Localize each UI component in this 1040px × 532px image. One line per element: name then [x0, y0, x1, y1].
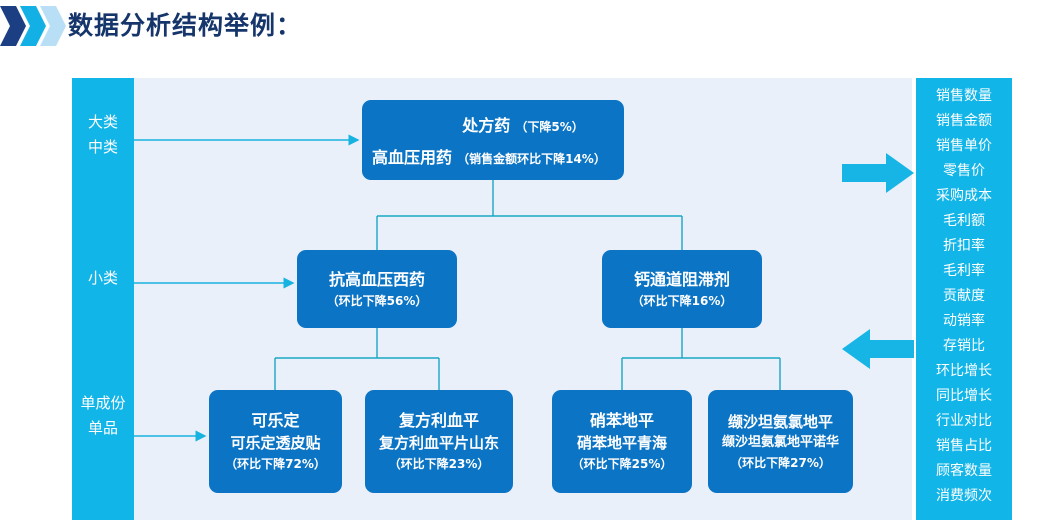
diagram-canvas: 大类 中类 小类 单成份 单品: [72, 78, 912, 520]
node-leaf-1[interactable]: 可乐定 可乐定透皮贴 （环比下降72%）: [209, 390, 342, 493]
node-leaf-1-line1: 可乐定: [251, 409, 299, 432]
slide-header: 数据分析结构举例：: [0, 0, 1040, 60]
level-label-line: 单品: [72, 416, 134, 441]
arrow-left-icon: [842, 328, 914, 370]
metric-item[interactable]: 销售单价: [916, 134, 1012, 159]
metric-item[interactable]: 环比增长: [916, 359, 1012, 384]
metric-column: 销售数量销售金额销售单价零售价采购成本毛利额折扣率毛利率贡献度动销率存销比环比增…: [916, 78, 1012, 520]
node-leaf-4-note: （环比下降27%）: [730, 453, 831, 473]
level-label-line: 小类: [72, 266, 134, 291]
node-leaf-3-note: （环比下降25%）: [572, 454, 673, 474]
node-root-title-row: 处方药 （下降5%）: [362, 112, 624, 136]
slide-root: 数据分析结构举例： 大类 中类 小类 单成份 单品: [0, 0, 1040, 532]
node-mid-2-note: （环比下降16%）: [632, 291, 733, 311]
node-leaf-1-note: （环比下降72%）: [225, 454, 326, 474]
page-title: 数据分析结构举例：: [68, 8, 302, 44]
metric-item[interactable]: 毛利额: [916, 209, 1012, 234]
metric-item[interactable]: 行业对比: [916, 409, 1012, 434]
node-leaf-3-line2: 硝苯地平青海: [577, 432, 667, 454]
node-mid-1-note: （环比下降56%）: [327, 291, 428, 311]
node-root-title-note: （下降5%）: [515, 120, 583, 134]
level-label-column: 大类 中类 小类 单成份 单品: [72, 78, 134, 520]
node-leaf-3[interactable]: 硝苯地平 硝苯地平青海 （环比下降25%）: [552, 390, 692, 493]
level-label-line: 大类: [72, 110, 134, 135]
metric-item[interactable]: 同比增长: [916, 384, 1012, 409]
node-mid-1[interactable]: 抗高血压西药 （环比下降56%）: [297, 250, 457, 328]
metric-item[interactable]: 贡献度: [916, 284, 1012, 309]
node-mid-2-title: 钙通道阻滞剂: [634, 268, 730, 291]
node-mid-1-title: 抗高血压西药: [329, 268, 425, 291]
node-leaf-2-line1: 复方利血平: [399, 409, 479, 432]
metric-item[interactable]: 毛利率: [916, 259, 1012, 284]
node-leaf-2-line2: 复方利血平片山东: [379, 432, 499, 454]
node-root-subtitle: 高血压用药: [372, 148, 452, 167]
node-leaf-4-line2: 缬沙坦氨氯地平诺华: [722, 433, 839, 453]
level-label-line: 中类: [72, 135, 134, 160]
chevron-light-icon: [40, 6, 66, 46]
node-leaf-2[interactable]: 复方利血平 复方利血平片山东 （环比下降23%）: [365, 390, 513, 493]
metric-item[interactable]: 存销比: [916, 334, 1012, 359]
metric-item[interactable]: 销售数量: [916, 84, 1012, 109]
level-label-minor: 小类: [72, 266, 134, 291]
level-label-major: 大类 中类: [72, 110, 134, 160]
metric-item[interactable]: 顾客数量: [916, 459, 1012, 484]
node-leaf-4-line1: 缬沙坦氨氯地平: [728, 411, 833, 433]
node-root-sub-row: 高血压用药 （销售金额环比下降14%）: [362, 144, 624, 168]
node-leaf-4[interactable]: 缬沙坦氨氯地平 缬沙坦氨氯地平诺华 （环比下降27%）: [708, 390, 853, 493]
node-root-subtitle-note: （销售金额环比下降14%）: [457, 152, 606, 166]
metric-item[interactable]: 销售金额: [916, 109, 1012, 134]
metric-list: 销售数量销售金额销售单价零售价采购成本毛利额折扣率毛利率贡献度动销率存销比环比增…: [916, 78, 1012, 509]
node-leaf-1-line2: 可乐定透皮贴: [230, 432, 320, 454]
node-mid-2[interactable]: 钙通道阻滞剂 （环比下降16%）: [602, 250, 762, 328]
node-leaf-2-note: （环比下降23%）: [389, 454, 490, 474]
level-label-item: 单成份 单品: [72, 391, 134, 441]
metric-item[interactable]: 折扣率: [916, 234, 1012, 259]
metric-item[interactable]: 采购成本: [916, 184, 1012, 209]
arrow-right-icon: [842, 152, 914, 194]
node-root[interactable]: 处方药 （下降5%） 高血压用药 （销售金额环比下降14%）: [362, 100, 624, 180]
chevron-group: [0, 6, 66, 46]
node-root-title: 处方药: [462, 116, 510, 135]
node-leaf-3-line1: 硝苯地平: [590, 409, 654, 432]
metric-item[interactable]: 动销率: [916, 309, 1012, 334]
metric-item[interactable]: 销售占比: [916, 434, 1012, 459]
metric-item[interactable]: 消费频次: [916, 484, 1012, 509]
metric-item[interactable]: 零售价: [916, 159, 1012, 184]
level-label-line: 单成份: [72, 391, 134, 416]
